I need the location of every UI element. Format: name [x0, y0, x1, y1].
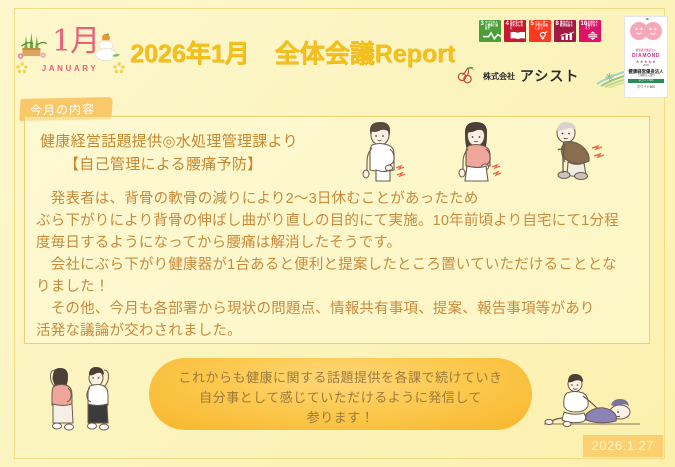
elderly-man-with-cane-illustration — [548, 120, 620, 182]
heartbeat-icon — [482, 31, 501, 40]
cert-badge-top: 健康経営優良法人 DIAMOND ★★★★★ — [625, 17, 667, 63]
pain-bolt-icon — [396, 166, 405, 176]
topic-heading-line2: 【自己管理による腰痛予防】 — [40, 153, 298, 176]
inequality-icon — [582, 31, 601, 40]
date-badge: 2026.1.27 — [583, 435, 663, 457]
company-brand: アシスト — [520, 68, 579, 84]
sdg-number: 5 — [531, 21, 534, 28]
sdg-label: ジェンダー平等を実現しよう — [535, 21, 550, 31]
massage-treatment-illustration — [540, 368, 644, 432]
kadomatsu-icon — [16, 30, 54, 66]
body-line: 度毎日するようになってから腰痛は解消したそうです。 — [36, 232, 636, 254]
closing-line: 自分事として感じていただけるように発信して — [149, 388, 532, 408]
sdg-label: 働きがいも経済成長も — [560, 21, 575, 27]
body-line: ぶら下がりにより背骨の伸ばし曲がり直しの目的にて実施。10年前頃より自宅にて1分… — [36, 210, 636, 232]
sdg-number: 3 — [481, 21, 484, 28]
sdg-number: 4 — [506, 21, 509, 28]
closing-message-text: これからも健康に関する話題提供を各課で続けていき 自分事として感じていただけるよ… — [149, 368, 532, 428]
cert-stars: ★★★★★ — [625, 59, 667, 64]
sdg-icon-10: 10 人や国の不平等をなくそう — [579, 20, 601, 42]
kagami-mochi-icon — [90, 33, 122, 63]
man-with-back-pain-illustration — [352, 118, 414, 182]
month-english-label: JANUARY — [14, 64, 126, 73]
month-badge: 1月 JANUARY — [14, 24, 126, 80]
cert-year: 2026 — [625, 64, 667, 67]
slide-canvas: 1月 JANUARY 2026年1月 全体会議Report — [0, 0, 675, 467]
logo-cluster: 3 すべての人に健康と福祉を 4 質の高い教育をみんなに 5 ジェンダー平等を実… — [455, 14, 675, 100]
closing-line: これからも健康に関する話題提供を各課で続けていき — [149, 368, 532, 388]
sdg-icon-4: 4 質の高い教育をみんなに — [504, 20, 526, 42]
topic-heading: 健康経営話題提供◎水処理管理課より 【自己管理による腰痛予防】 — [40, 130, 298, 176]
plum-flower-icon — [16, 62, 28, 74]
woman-with-back-pain-illustration — [448, 118, 510, 182]
cert-bottom-text: ホワイト500 — [625, 85, 667, 89]
sdg-icon-row: 3 すべての人に健康と福祉を 4 質の高い教育をみんなに 5 ジェンダー平等を実… — [479, 20, 601, 42]
slide-header: 1月 JANUARY 2026年1月 全体会議Report — [0, 0, 675, 100]
sdg-icon-8: 8 働きがいも経済成長も — [554, 20, 576, 42]
sdg-label: 質の高い教育をみんなに — [510, 21, 525, 31]
body-line: 活発な議論が交わされました。 — [36, 320, 636, 342]
plum-flower-icon — [113, 62, 125, 74]
pain-bolt-icon — [492, 165, 501, 175]
cherry-icon — [457, 64, 479, 86]
gender-equality-icon — [532, 31, 551, 40]
page-title: 2026年1月 全体会議Report — [130, 34, 460, 70]
sdg-icon-3: 3 すべての人に健康と福祉を — [479, 20, 501, 42]
sdg-number: 8 — [556, 21, 559, 28]
closing-line: 参ります！ — [149, 408, 532, 428]
growth-chart-icon — [557, 31, 576, 40]
sdg-icon-5: 5 ジェンダー平等を実現しよう — [529, 20, 551, 42]
health-certification-badge: 健康経営優良法人 DIAMOND ★★★★★ 2026 健康経営優良法人 大規模… — [624, 16, 668, 98]
body-line: 会社にぶら下がり健康器が1台あると便利と提案したところ置いていただけることとな — [36, 254, 636, 276]
pain-bolt-icon — [592, 146, 604, 157]
body-line: その他、今月も各部署から現状の問題点、情報共有事項、提案、報告事項等があり — [36, 298, 636, 320]
body-text: 発表者は、背骨の軟骨の減りにより2～3日休むことがあったため ぶら下がりにより背… — [36, 188, 636, 342]
back-pain-illustrations — [352, 118, 642, 182]
company-name: 株式会社 アシスト — [483, 66, 579, 86]
cert-green-band: ホワイト500 — [628, 79, 664, 83]
book-icon — [507, 31, 526, 40]
sdg-label: 人や国の不平等をなくそう — [585, 21, 600, 31]
company-prefix: 株式会社 — [483, 72, 515, 81]
cert-faces-icon — [625, 17, 667, 43]
body-line: 発表者は、背骨の軟骨の減りにより2～3日休むことがあったため — [36, 188, 636, 210]
two-people-stretching-illustration — [34, 358, 130, 434]
topic-heading-line1: 健康経営話題提供◎水処理管理課より — [40, 133, 298, 150]
cert-top-caption: 健康経営優良法人 — [625, 49, 667, 52]
cert-subtitle: 大規模法人部門 — [625, 74, 667, 77]
body-line: りました！ — [36, 276, 636, 298]
sdg-label: すべての人に健康と福祉を — [485, 21, 500, 31]
